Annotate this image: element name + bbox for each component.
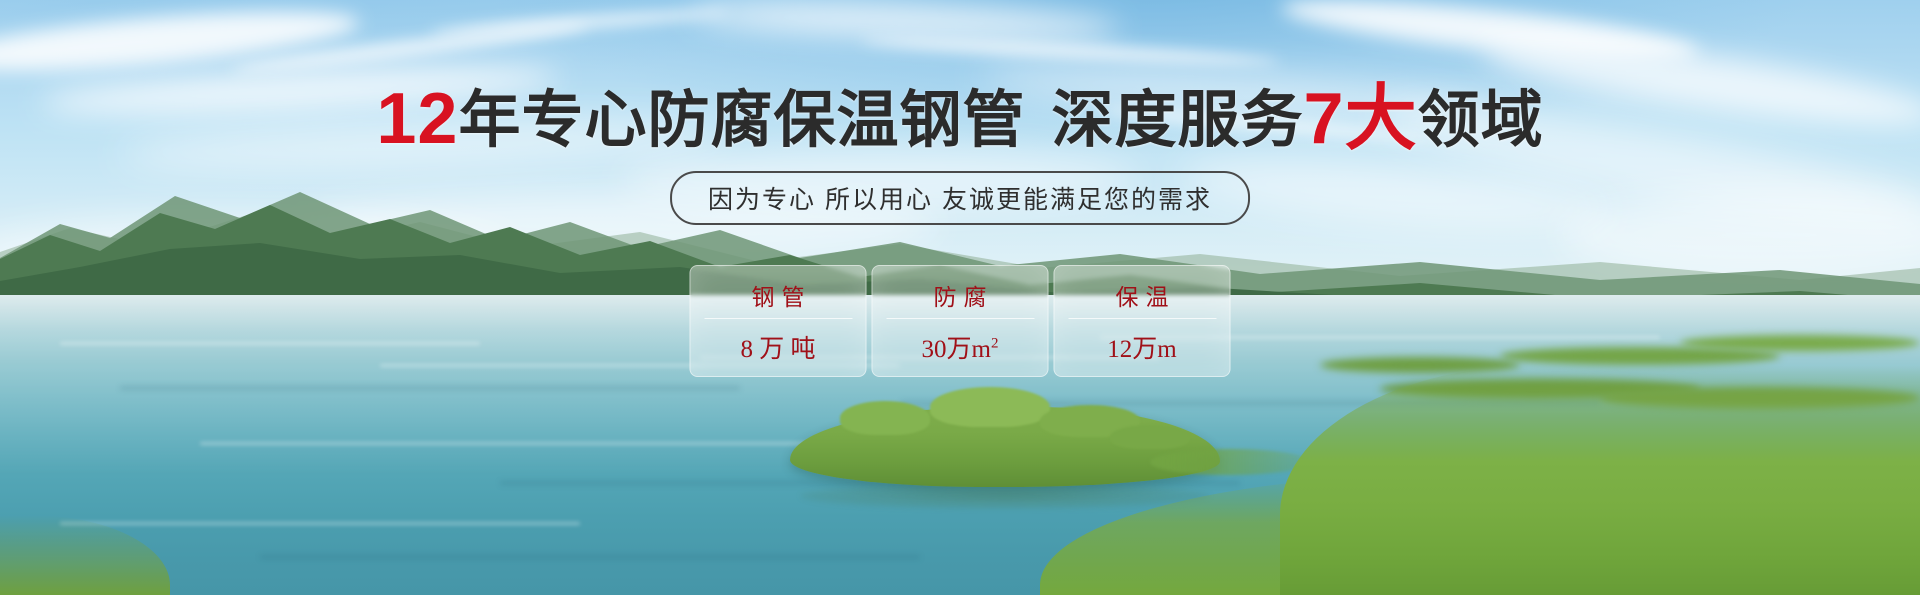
headline-years-accent: 12	[376, 79, 458, 159]
headline-part-two: 深度服务	[1052, 86, 1304, 155]
stat-card-steel-pipe: 钢管 8 万 吨	[690, 265, 867, 377]
water-ripple	[60, 342, 480, 345]
marsh-patch	[1680, 335, 1920, 351]
stat-card-divider	[1068, 318, 1216, 319]
headline-part-three: 领域	[1418, 86, 1544, 155]
stat-card-value-text: 12万m	[1107, 336, 1176, 363]
stat-card-divider	[886, 318, 1034, 319]
stat-card-title: 保温	[1109, 278, 1176, 312]
subtitle-text: 因为专心 所以用心 友诚更能满足您的需求	[708, 180, 1212, 216]
island-spit	[1150, 449, 1310, 475]
stat-card-value-superscript: 2	[991, 335, 999, 351]
headline-number-accent: 7	[1304, 79, 1345, 159]
stat-card-value-text: 30万m	[922, 336, 991, 363]
water-ripple	[200, 442, 840, 445]
subtitle-pill: 因为专心 所以用心 友诚更能满足您的需求	[670, 171, 1250, 225]
water-ripple	[120, 386, 740, 390]
hero-banner: 12年专心防腐保温钢管深度服务7大领域 因为专心 所以用心 友诚更能满足您的需求…	[0, 0, 1920, 595]
stat-card-value: 12万m	[1107, 329, 1176, 365]
stat-card-divider	[704, 318, 852, 319]
stat-card-title: 防腐	[927, 278, 994, 312]
island-grass-tuft	[840, 401, 930, 435]
island-grass-tuft	[930, 387, 1050, 427]
stat-card-anticorrosion: 防腐 30万m2	[872, 265, 1049, 377]
island-grass-tuft	[1110, 425, 1190, 449]
stat-card-value-text: 8 万 吨	[740, 336, 815, 363]
headline-unit-accent: 大	[1345, 79, 1418, 159]
page-title: 12年专心防腐保温钢管深度服务7大领域	[0, 83, 1920, 155]
headline-part-one: 年专心防腐保温钢管	[458, 86, 1025, 155]
stat-card-title: 钢管	[745, 278, 812, 312]
water-ripple	[60, 522, 580, 525]
stat-card-value: 30万m2	[922, 329, 999, 365]
water-ripple	[260, 555, 920, 559]
stat-card-insulation: 保温 12万m	[1054, 265, 1231, 377]
stat-card-group: 钢管 8 万 吨 防腐 30万m2 保温 12万m	[690, 265, 1231, 377]
stat-card-value: 8 万 吨	[740, 329, 815, 365]
grass-field-near	[1280, 365, 1920, 595]
